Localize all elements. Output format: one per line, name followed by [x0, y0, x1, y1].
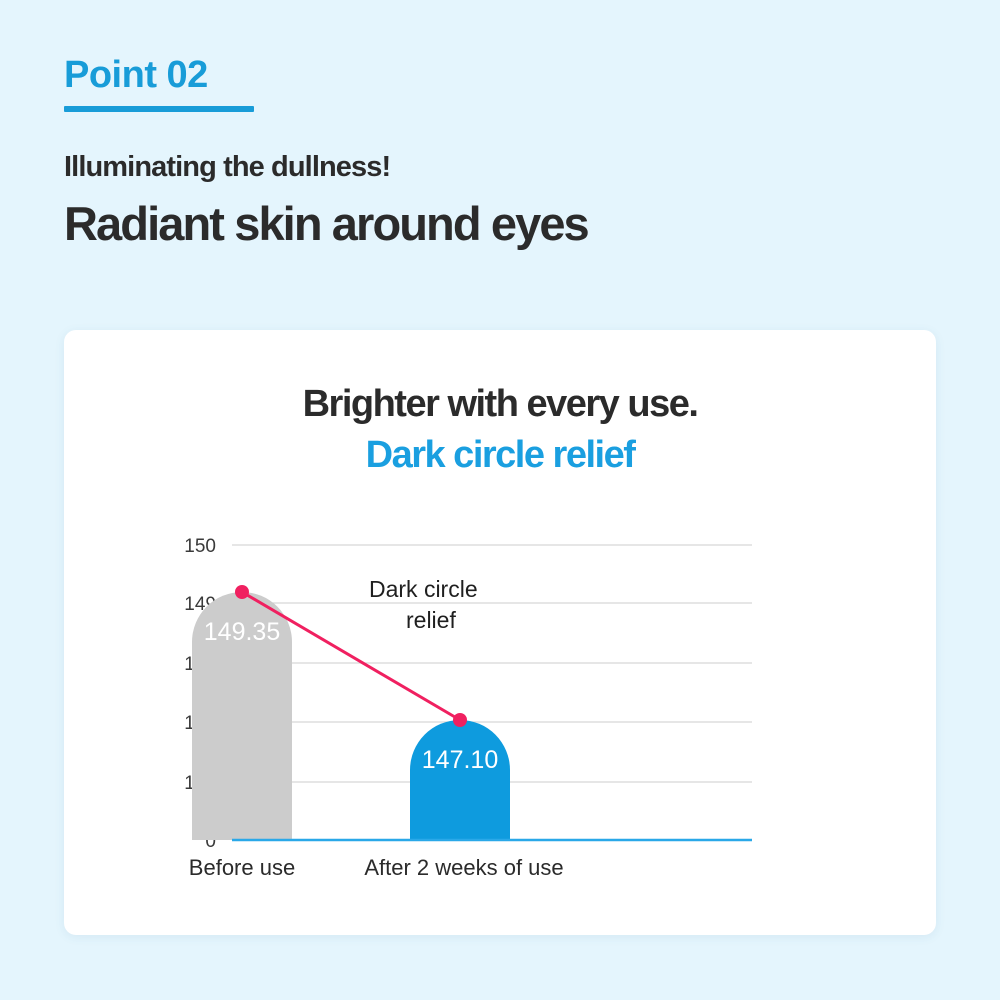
dark-circle-bar-chart: 150 149 148 147 146 0 149.35 147.10: [64, 515, 936, 905]
y-tick-label: 150: [184, 536, 216, 557]
bar-value-label: 149.35: [204, 618, 280, 646]
annotation-line-2: relief: [406, 607, 456, 633]
point-label: Point 02: [64, 56, 208, 96]
bar-value-label: 147.10: [422, 746, 498, 774]
card-subtitle: Dark circle relief: [64, 433, 936, 478]
chart-container: 150 149 148 147 146 0 149.35 147.10: [64, 515, 936, 905]
card-title-block: Brighter with every use. Dark circle rel…: [64, 382, 936, 478]
header-block: Point 02 Illuminating the dullness! Radi…: [64, 56, 904, 251]
x-axis-category-labels: Before use After 2 weeks of use: [189, 855, 564, 880]
category-label-after: After 2 weeks of use: [364, 855, 563, 880]
main-headline: Radiant skin around eyes: [64, 197, 904, 251]
trend-annotation: Dark circle relief: [369, 576, 478, 633]
chart-card: Brighter with every use. Dark circle rel…: [64, 330, 936, 935]
card-title: Brighter with every use.: [64, 382, 936, 427]
category-label-before: Before use: [189, 855, 295, 880]
trend-point-before[interactable]: [235, 585, 249, 599]
bar-after-two-weeks[interactable]: [410, 720, 510, 840]
annotation-line-1: Dark circle: [369, 576, 478, 602]
point-underline: [64, 106, 254, 112]
sub-headline: Illuminating the dullness!: [64, 150, 904, 185]
trend-point-after[interactable]: [453, 713, 467, 727]
point-badge: Point 02: [64, 56, 904, 112]
